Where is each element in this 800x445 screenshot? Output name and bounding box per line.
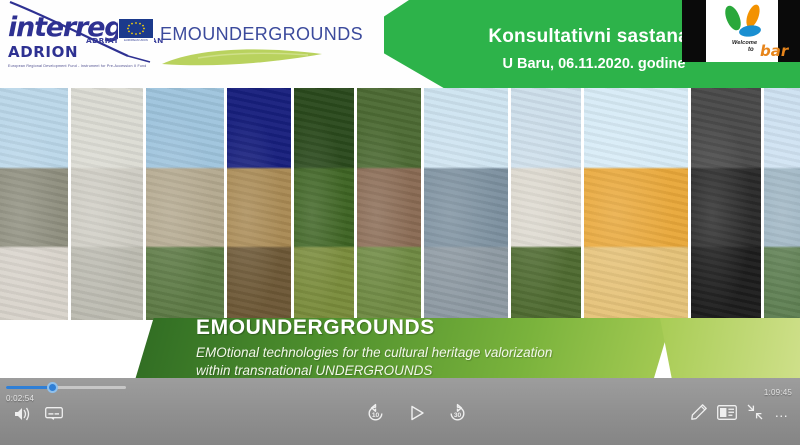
photo-castle-tower-garden [511, 88, 581, 320]
eu-flag-field [119, 19, 153, 38]
interreg-programme-label: ADRION [8, 43, 140, 61]
current-time-label: 0:02:54 [6, 394, 34, 403]
photo-texture [357, 88, 421, 320]
volume-slider[interactable] [6, 382, 126, 392]
footer-subtitle-line1: EMOtional technologies for the cultural … [196, 344, 552, 362]
project-name-heading: EMOUNDERGROUNDS [160, 24, 363, 45]
pen-icon[interactable] [688, 401, 710, 423]
photo-texture [584, 88, 688, 320]
collapse-arrows-icon[interactable] [744, 402, 766, 422]
photo-texture [0, 88, 68, 320]
more-options-button[interactable]: … [772, 403, 792, 421]
bar-name-text: bar [760, 42, 788, 60]
leaf-swirl-icon [158, 46, 328, 68]
play-icon[interactable] [406, 402, 428, 424]
photo-aerial-coastal-town [146, 88, 224, 320]
photo-woman-vr-headset [584, 88, 688, 320]
forward-30-label: 30 [453, 412, 461, 419]
volume-icon[interactable] [12, 404, 32, 424]
photo-riverside-town-panorama [764, 88, 800, 320]
photo-classical-building-facade [71, 88, 143, 320]
photo-historic-building-night [227, 88, 291, 320]
eu-flag-logo: EUROPEAN UNION [118, 18, 154, 43]
eu-stars [119, 19, 153, 38]
presentation-slide: interreg ADRION European Regional Develo… [0, 0, 800, 400]
bar-welcome-text: Welcome [732, 40, 757, 46]
photo-texture [294, 88, 354, 320]
photo-texture [511, 88, 581, 320]
welcome-to-bar-tile[interactable]: Welcome to bar [682, 0, 800, 62]
subtitles-icon[interactable] [44, 405, 64, 421]
rewind-10-icon[interactable]: 10 [364, 402, 386, 424]
total-time-label: 1:09:45 [764, 388, 792, 397]
bar-to-text: to [748, 47, 754, 53]
photo-fortress-stone-rampart [0, 88, 68, 320]
rewind-10-label: 10 [371, 412, 379, 419]
welcome-to-bar-wordmark: Welcome to bar [732, 40, 800, 60]
photo-texture [424, 88, 508, 320]
photo-strip [0, 88, 800, 320]
footer-project-subtitle: EMOtional technologies for the cultural … [196, 344, 552, 380]
forward-30-icon[interactable]: 30 [446, 402, 468, 424]
volume-slider-fill [6, 386, 52, 389]
video-player-stage: interreg ADRION European Regional Develo… [0, 0, 800, 445]
interreg-fund-subtitle: European Regional Development Fund - Ins… [8, 64, 140, 68]
photo-texture [146, 88, 224, 320]
footer-project-title: EMOUNDERGROUNDS [196, 316, 435, 340]
photo-texture [691, 88, 761, 320]
photo-texture [764, 88, 800, 320]
player-controls-bar: 0:02:54 1:09:45 10 [0, 378, 800, 445]
welcome-to-bar-logo: Welcome to bar [706, 0, 778, 62]
presenter-card-icon[interactable] [716, 402, 738, 422]
photo-texture [227, 88, 291, 320]
photo-dam-reservoir-bridge [424, 88, 508, 320]
slide-header: interreg ADRION European Regional Develo… [0, 0, 800, 88]
photo-texture [71, 88, 143, 320]
photo-underground-tunnel [691, 88, 761, 320]
eu-flag-caption: EUROPEAN UNION [119, 39, 153, 42]
volume-slider-handle[interactable] [47, 382, 58, 393]
photo-cypress-hillside [294, 88, 354, 320]
photo-rural-house-valley [357, 88, 421, 320]
